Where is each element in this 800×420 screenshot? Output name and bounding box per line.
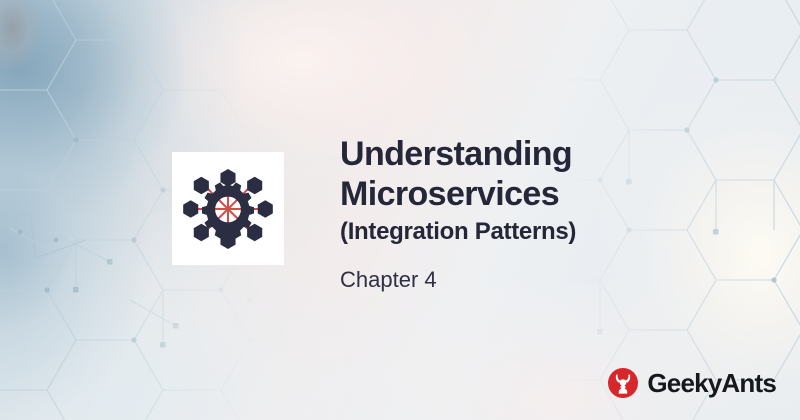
title-line-1: Understanding	[340, 134, 760, 174]
page-subtitle: (Integration Patterns)	[340, 218, 760, 246]
brand-name: GeekyAnts	[647, 370, 776, 396]
chapter-label: Chapter 4	[340, 267, 760, 293]
topic-logo-card	[172, 152, 284, 265]
slide-canvas: Understanding Microservices (Integration…	[0, 0, 800, 420]
title-line-2: Microservices	[340, 174, 760, 214]
microservices-gear-network-icon	[182, 163, 274, 255]
page-title: Understanding Microservices	[340, 134, 760, 214]
slide-text-block: Understanding Microservices (Integration…	[340, 134, 760, 293]
brand-lockup: GeekyAnts	[608, 368, 776, 398]
geekyants-ant-logo-icon	[608, 368, 638, 398]
